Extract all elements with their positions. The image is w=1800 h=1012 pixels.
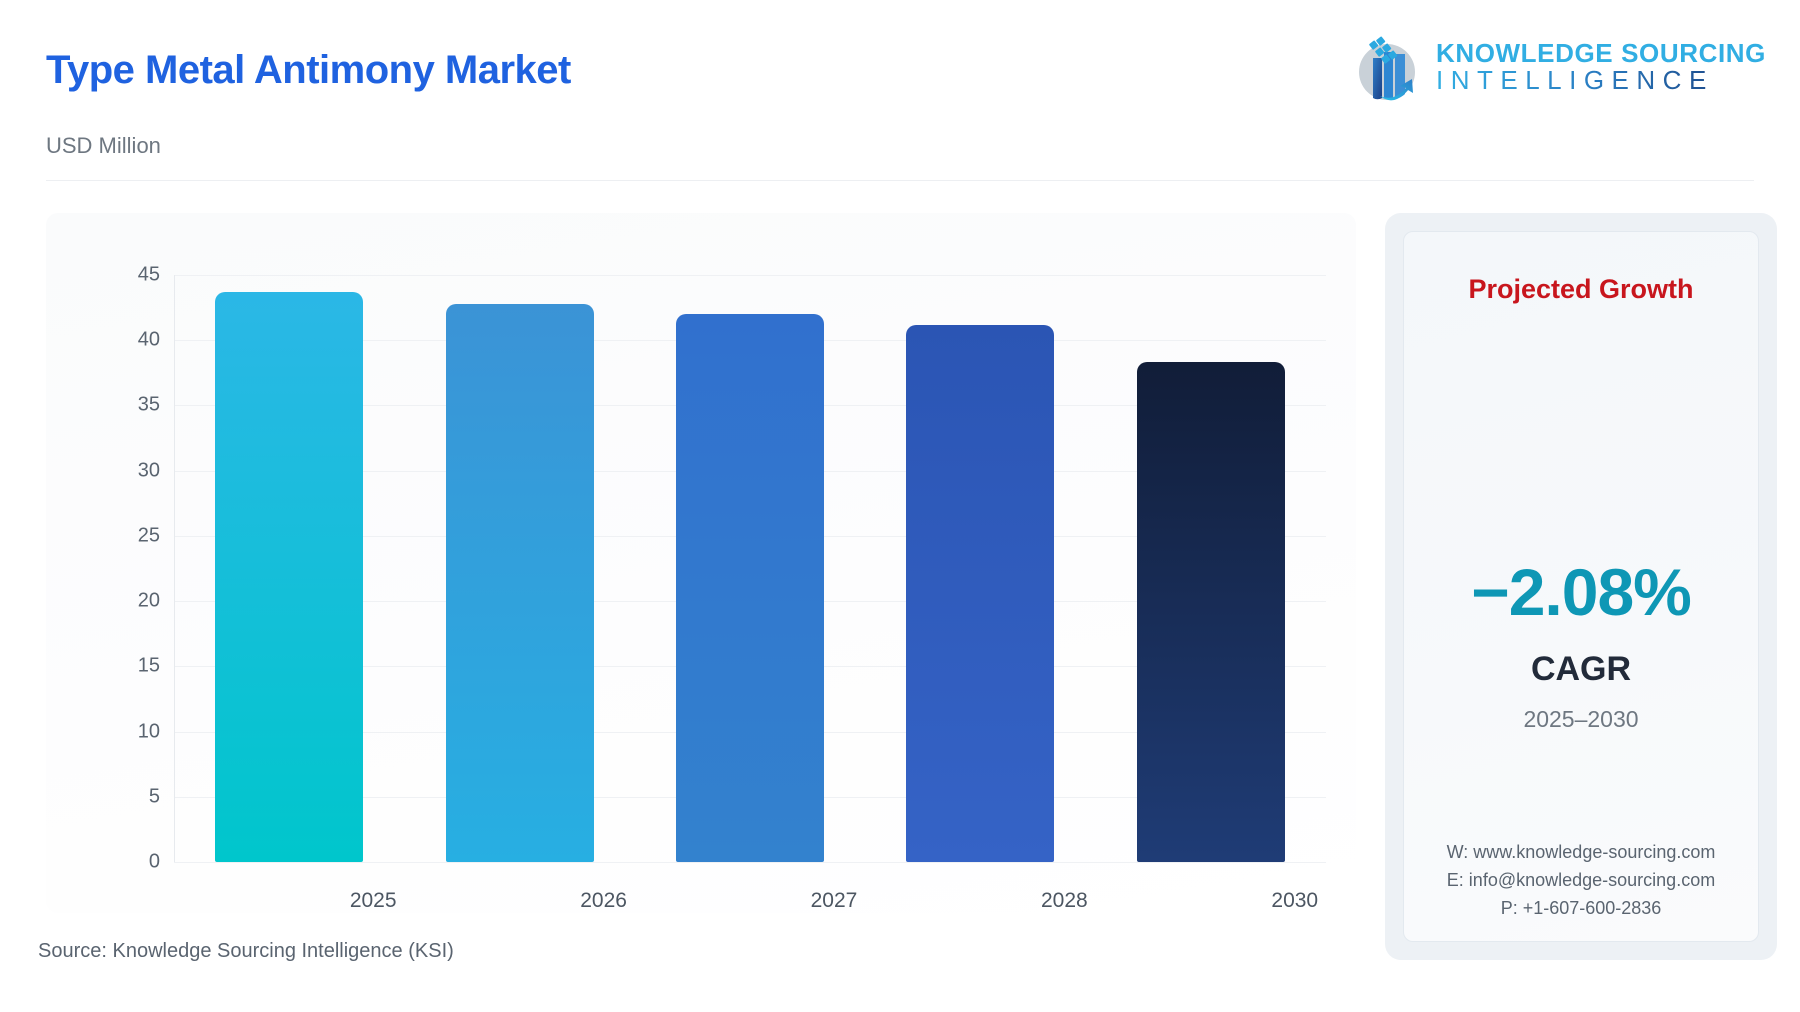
y-axis-tick-label: 15: [138, 655, 160, 678]
logo-line-knowledge-sourcing: KNOWLEDGE SOURCING: [1436, 40, 1766, 67]
logo-wordmark: KNOWLEDGE SOURCING INTELLIGENCE: [1436, 40, 1766, 93]
bar-slot: [180, 275, 399, 862]
bar-2030[interactable]: [1137, 362, 1285, 862]
bar-2027[interactable]: [676, 314, 824, 862]
bar-chart-card: 454035302520151050 20252026202720282030: [46, 213, 1356, 913]
cagr-period: 2025–2030: [1404, 706, 1758, 733]
projected-growth-panel: Projected Growth −2.08% CAGR 2025–2030 W…: [1385, 213, 1777, 960]
x-axis-tick-label: 2030: [1185, 889, 1404, 913]
header-divider: [46, 180, 1754, 181]
y-axis-tick-label: 5: [149, 785, 160, 808]
bar-slot: [410, 275, 629, 862]
y-axis-tick-label: 35: [138, 394, 160, 417]
x-axis-tick-label: 2026: [494, 889, 713, 913]
contact-website[interactable]: W: www.knowledge-sourcing.com: [1404, 839, 1758, 867]
chart-page: Type Metal Antimony Market USD Million: [0, 0, 1800, 1012]
gridline: [174, 862, 1326, 863]
cagr-value: −2.08%: [1404, 554, 1758, 630]
knowledge-sourcing-globe-arrow-icon: [1346, 28, 1424, 106]
y-axis-tick-label: 0: [149, 851, 160, 874]
y-axis-tick-label: 20: [138, 590, 160, 613]
contact-block: W: www.knowledge-sourcing.com E: info@kn…: [1404, 839, 1758, 923]
y-axis-tick-label: 25: [138, 524, 160, 547]
plot-area: [174, 275, 1326, 862]
contact-email[interactable]: E: info@knowledge-sourcing.com: [1404, 867, 1758, 895]
projected-growth-card: Projected Growth −2.08% CAGR 2025–2030 W…: [1403, 231, 1759, 942]
bar-slot: [641, 275, 860, 862]
bar-slot: [871, 275, 1090, 862]
logo-line-intelligence: INTELLIGENCE: [1436, 67, 1766, 94]
y-axis-tick-label: 30: [138, 459, 160, 482]
page-title: Type Metal Antimony Market: [46, 48, 571, 93]
x-axis-tick-label: 2027: [725, 889, 944, 913]
page-header: Type Metal Antimony Market USD Million: [0, 0, 1800, 182]
x-axis-tick-label: 2028: [955, 889, 1174, 913]
company-logo: KNOWLEDGE SOURCING INTELLIGENCE: [1346, 24, 1766, 110]
bar-2028[interactable]: [906, 325, 1054, 862]
x-axis-tick-label: 2025: [264, 889, 483, 913]
bar-slot: [1101, 275, 1320, 862]
y-axis-tick-label: 10: [138, 720, 160, 743]
cagr-label: CAGR: [1404, 650, 1758, 689]
bar-series: [174, 275, 1326, 862]
bar-2026[interactable]: [446, 304, 594, 862]
plot-region: 454035302520151050 20252026202720282030: [130, 275, 1326, 862]
projected-growth-heading: Projected Growth: [1404, 274, 1758, 305]
y-axis-tick-label: 45: [138, 264, 160, 287]
y-axis-tick-label: 40: [138, 329, 160, 352]
bar-2025[interactable]: [215, 292, 363, 862]
contact-phone[interactable]: P: +1-607-600-2836: [1404, 895, 1758, 923]
source-note: Source: Knowledge Sourcing Intelligence …: [38, 940, 454, 963]
page-subtitle-units: USD Million: [46, 133, 161, 159]
